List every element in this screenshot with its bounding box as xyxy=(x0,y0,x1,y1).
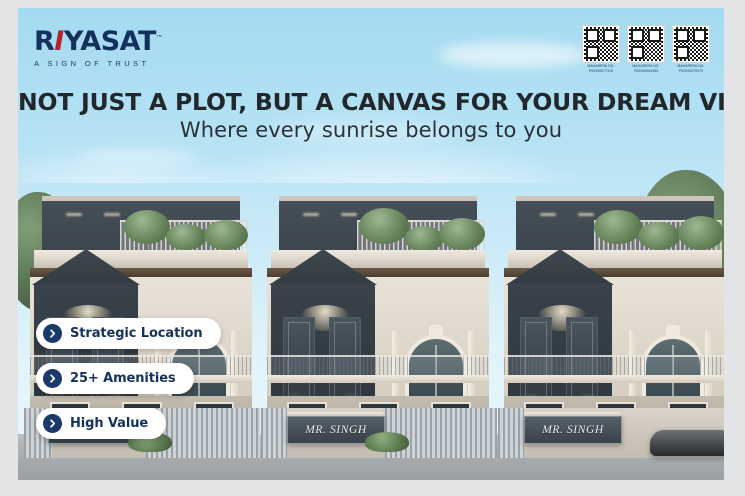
feature-pill-label: Strategic Location xyxy=(70,326,203,341)
qr-code-image[interactable] xyxy=(673,26,709,62)
gate-slats xyxy=(498,408,524,458)
headline: NOT JUST A PLOT, BUT A CANVAS FOR YOUR D… xyxy=(18,88,724,116)
gate-slats xyxy=(385,408,497,458)
rooftop-shrub xyxy=(359,208,409,244)
feature-pill-high-value[interactable]: High Value xyxy=(36,408,166,439)
rooftop-shrub xyxy=(594,210,642,244)
qr-code-image[interactable] xyxy=(628,26,664,62)
feature-pill-strategic-location[interactable]: Strategic Location xyxy=(36,318,221,349)
logo-tagline: A SIGN OF TRUST xyxy=(34,59,194,68)
advertisement-frame: RIYASAT™ A SIGN OF TRUST MAHARERA NO. P5… xyxy=(0,0,745,496)
gate-slats xyxy=(261,408,287,458)
villa-unit: MR. SINGH xyxy=(261,190,497,458)
qr-caption-line1: MAHARERA NO. xyxy=(677,64,704,69)
boundary-wall: MR. SINGH xyxy=(261,408,497,458)
balcony-slab xyxy=(267,375,489,383)
qr-caption-line1: MAHARERA NO. xyxy=(632,64,659,69)
rooftop-shrub xyxy=(638,222,680,250)
qr-maharera-3[interactable]: MAHARERA NO. P52000079379 xyxy=(672,26,710,73)
qr-maharera-1[interactable]: MAHARERA NO. P52000077315 xyxy=(582,26,620,73)
rooftop-shrub xyxy=(439,218,485,250)
qr-caption: MAHARERA NO. P52000079379 xyxy=(677,64,704,73)
maharera-qr-strip: MAHARERA NO. P52000077315 MAHARERA NO. P… xyxy=(582,26,710,73)
balcony-slab xyxy=(504,375,724,383)
feature-pill-stack: Strategic Location 25+ Amenities High Va… xyxy=(36,318,221,439)
qr-caption-line2: P52000077315 xyxy=(587,69,614,74)
trademark-symbol: ™ xyxy=(156,34,163,42)
rooftop-shrub xyxy=(204,220,248,250)
nameplate-text: MR. SINGH xyxy=(305,424,367,436)
rooftop-shrub xyxy=(678,216,724,250)
boundary-wall: MR. SINGH xyxy=(498,408,724,458)
feature-pill-label: 25+ Amenities xyxy=(70,371,176,386)
creative-canvas: RIYASAT™ A SIGN OF TRUST MAHARERA NO. P5… xyxy=(18,8,724,480)
subheadline: Where every sunrise belongs to you xyxy=(18,118,724,142)
chevron-right-circle-icon xyxy=(43,324,62,343)
feature-pill-amenities[interactable]: 25+ Amenities xyxy=(36,363,194,394)
qr-maharera-2[interactable]: MAHARERA NO. P52000054353 xyxy=(627,26,665,73)
brand-logo[interactable]: RIYASAT™ A SIGN OF TRUST xyxy=(34,28,194,68)
villa-unit: MR. SINGH xyxy=(498,190,724,458)
nameplate-text: MR. SINGH xyxy=(542,424,604,436)
rooftop-shrub xyxy=(124,210,170,244)
feature-pill-label: High Value xyxy=(70,416,148,431)
logo-text-after: YASAT xyxy=(64,26,156,57)
rooftop-shrub xyxy=(166,224,206,250)
qr-caption: MAHARERA NO. P52000054353 xyxy=(632,64,659,73)
logo-wordmark: RIYASAT™ xyxy=(34,28,194,55)
qr-code-image[interactable] xyxy=(583,26,619,62)
qr-caption-line2: P52000054353 xyxy=(632,69,659,74)
qr-caption-line1: MAHARERA NO. xyxy=(587,64,614,69)
cloud-decoration xyxy=(438,42,588,68)
rooftop-shrub xyxy=(405,226,443,252)
chevron-right-circle-icon xyxy=(43,414,62,433)
qr-caption: MAHARERA NO. P52000077315 xyxy=(587,64,614,73)
parked-car xyxy=(650,430,724,456)
qr-caption-line2: P52000079379 xyxy=(677,69,704,74)
nameplate: MR. SINGH xyxy=(524,416,622,444)
hedge xyxy=(365,432,409,452)
chevron-right-circle-icon xyxy=(43,369,62,388)
